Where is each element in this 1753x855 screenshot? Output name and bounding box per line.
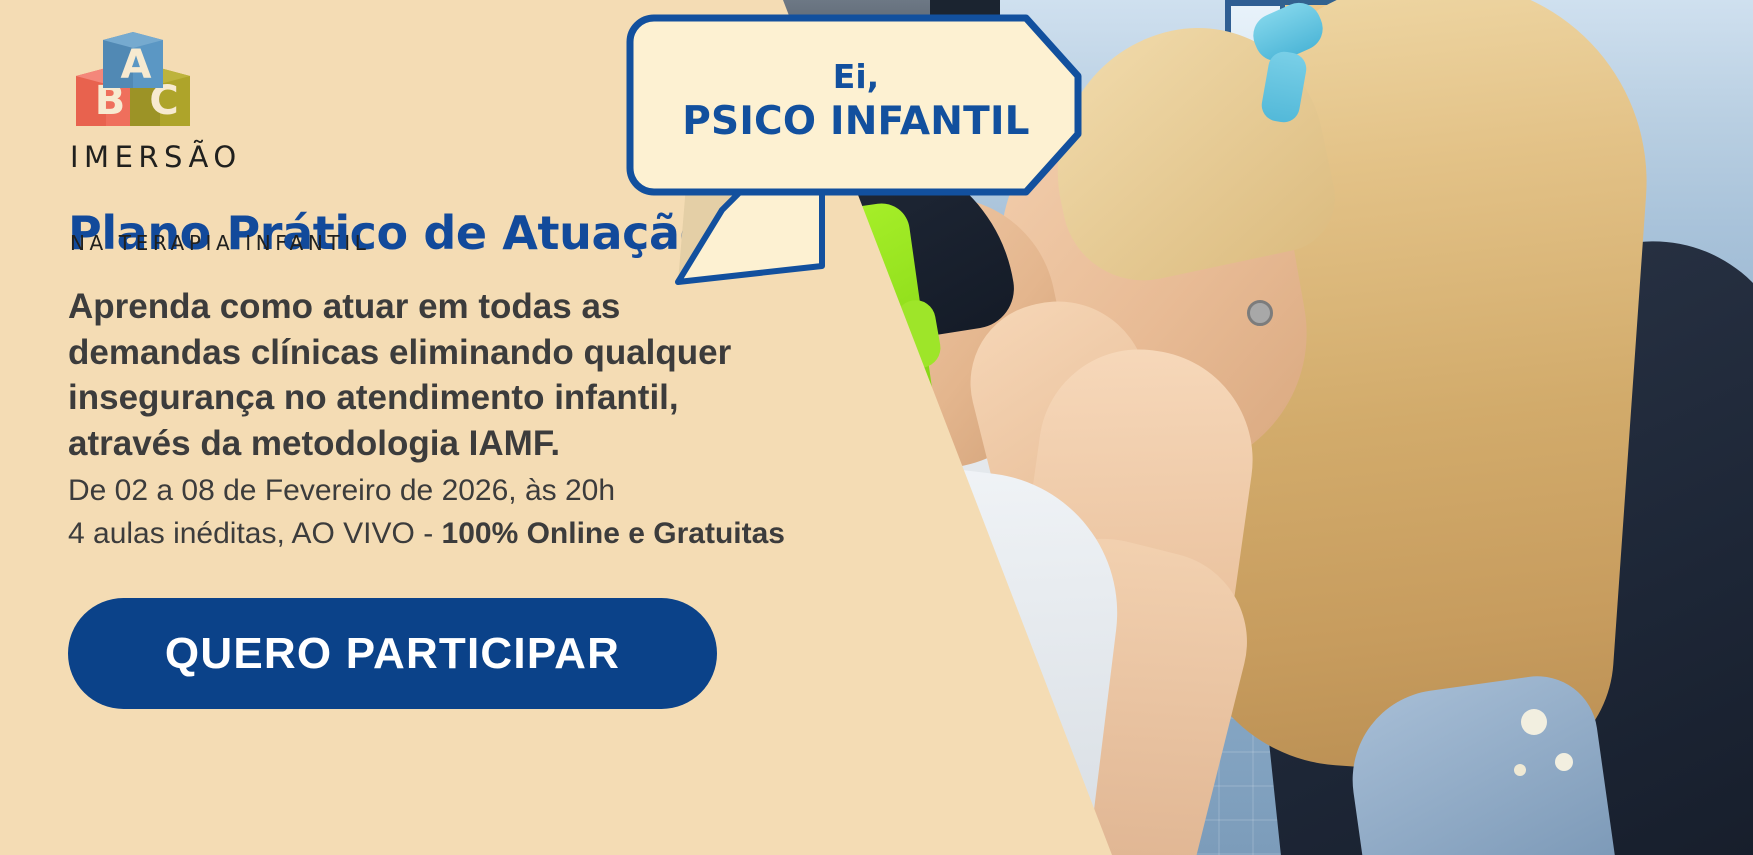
svg-text:A: A <box>121 42 152 88</box>
lead-line-3: insegurança no atendimento infantil, <box>68 375 828 421</box>
lead-paragraph: Aprenda como atuar em todas as demandas … <box>68 284 828 466</box>
abc-blocks-logo: B C A <box>68 26 198 136</box>
kicker-imersao: IMERSÃO <box>70 140 242 174</box>
promo-banner: B C A IMERSÃO Plano Prático de <box>0 0 1753 855</box>
quero-participar-button[interactable]: QUERO PARTICIPAR <box>68 598 717 709</box>
subkicker-terapia-infantil: NA TERAPIA INFANTIL <box>70 231 370 255</box>
event-classes-prefix: 4 aulas inéditas, AO VIVO - <box>68 517 442 550</box>
speech-bubble: Ei, PSICO INFANTIL <box>626 14 1086 304</box>
event-details: De 02 a 08 de Fevereiro de 2026, às 20h … <box>68 470 785 556</box>
speech-bubble-body <box>630 18 1078 192</box>
event-classes: 4 aulas inéditas, AO VIVO - 100% Online … <box>68 513 785 556</box>
lead-line-4: através da metodologia IAMF. <box>68 421 828 467</box>
event-date: De 02 a 08 de Fevereiro de 2026, às 20h <box>68 470 785 513</box>
photo-earring <box>1247 300 1273 326</box>
block-a-icon: A <box>103 32 163 88</box>
event-classes-highlight: 100% Online e Gratuitas <box>442 517 785 550</box>
photo-shirt-flower-print <box>1521 709 1547 735</box>
lead-line-2: demandas clínicas eliminando qualquer <box>68 330 828 376</box>
